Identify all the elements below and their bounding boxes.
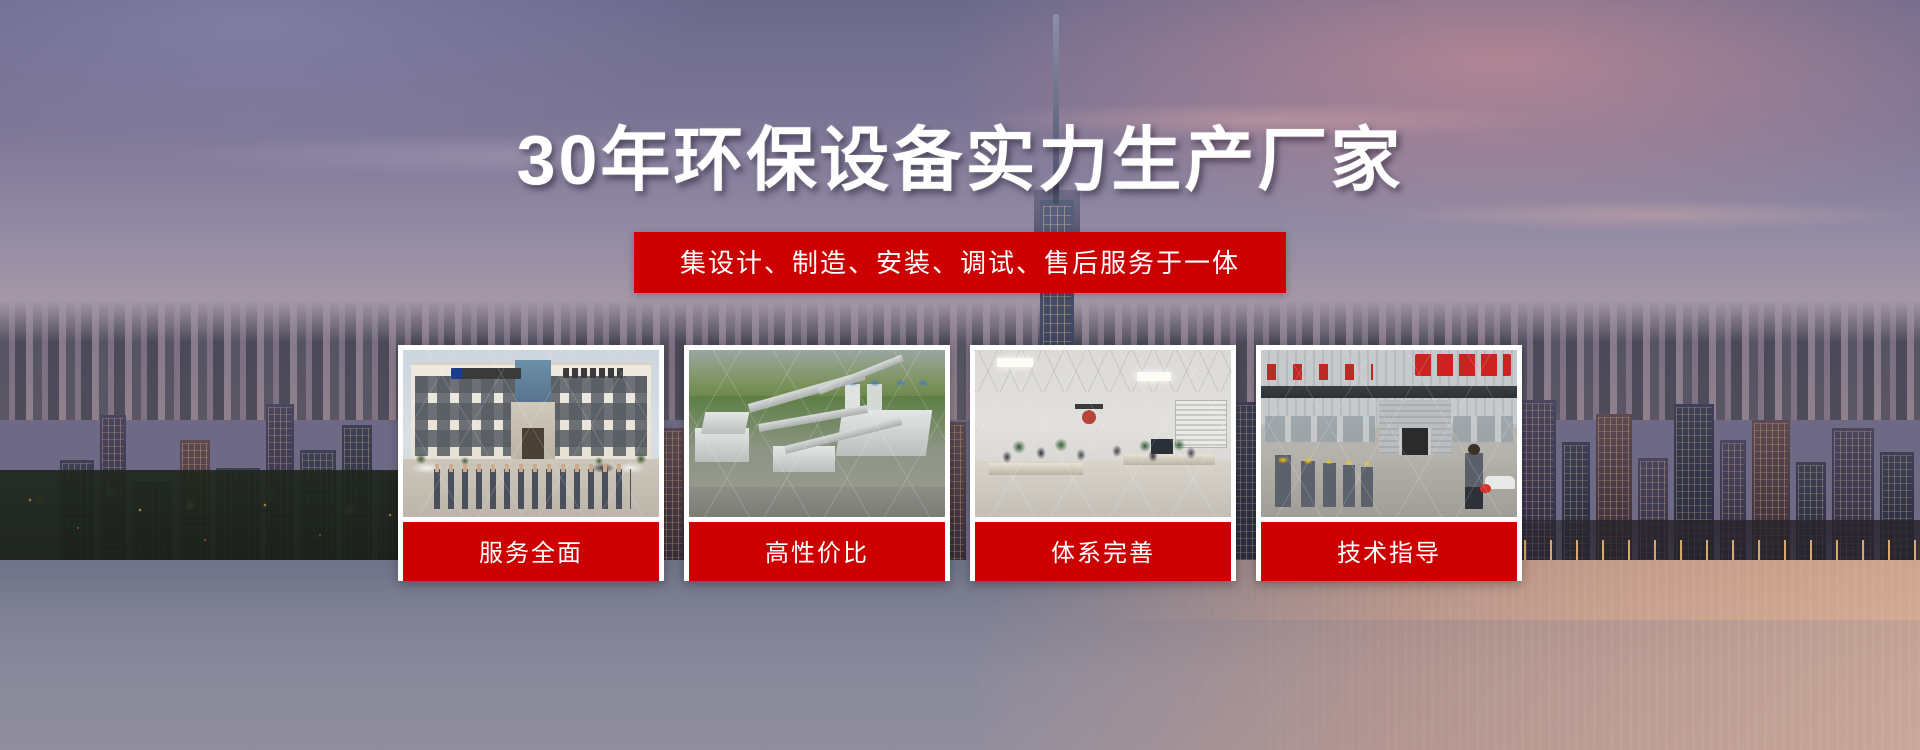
feature-card-service[interactable]: 服务全面 bbox=[398, 345, 664, 581]
factory-wall-small-slogans bbox=[1267, 364, 1373, 380]
card-photo-office-interior bbox=[975, 350, 1231, 517]
card-caption: 体系完善 bbox=[975, 522, 1231, 581]
card-photo-factory-workers bbox=[1261, 350, 1517, 517]
feature-card-system[interactable]: 体系完善 bbox=[970, 345, 1236, 581]
feature-card-value[interactable]: 高性价比 bbox=[684, 345, 950, 581]
worker-hard-hats bbox=[1275, 453, 1395, 465]
card-photo-plant-aerial bbox=[689, 350, 945, 517]
red-helmet bbox=[1480, 484, 1491, 493]
card-photo-office-building bbox=[403, 350, 659, 517]
card-caption: 高性价比 bbox=[689, 522, 945, 581]
page-title: 30年环保设备实力生产厂家 bbox=[0, 104, 1920, 205]
factory-wall-slogan bbox=[1415, 354, 1511, 376]
subtitle-banner: 集设计、制造、安装、调试、售后服务于一体 bbox=[0, 232, 1920, 293]
building-company-sign bbox=[451, 368, 521, 379]
wall-logo bbox=[1075, 404, 1103, 426]
card-caption: 服务全面 bbox=[403, 522, 659, 581]
card-caption: 技术指导 bbox=[1261, 522, 1517, 581]
feature-card-row: 服务全面 高性价比 bbox=[0, 345, 1920, 581]
building-phone-number bbox=[563, 368, 623, 378]
feature-card-guidance[interactable]: 技术指导 bbox=[1256, 345, 1522, 581]
subtitle-text: 集设计、制造、安装、调试、售后服务于一体 bbox=[634, 232, 1286, 293]
water-reflections bbox=[0, 560, 1920, 750]
hero-banner: 30年环保设备实力生产厂家 集设计、制造、安装、调试、售后服务于一体 服务全面 bbox=[0, 0, 1920, 750]
